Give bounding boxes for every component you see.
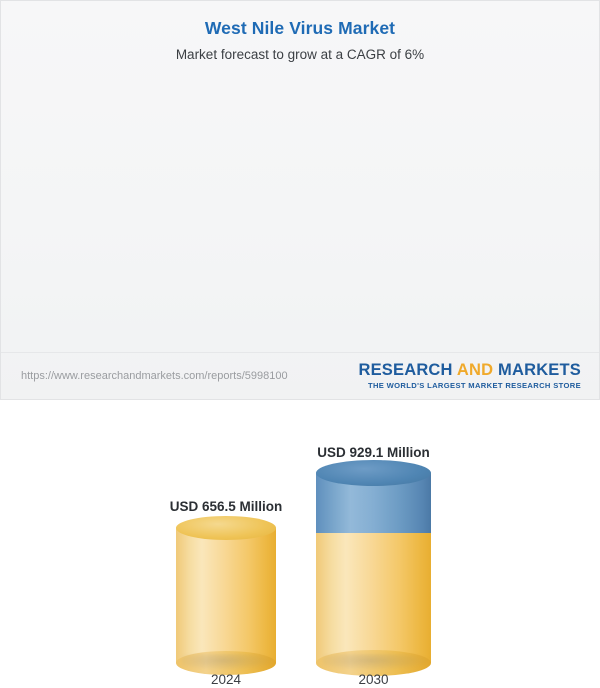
logo-wordmark: RESEARCH AND MARKETS [358, 361, 581, 380]
logo-word-markets: MARKETS [498, 361, 581, 379]
infographic-card: West Nile Virus Market Market forecast t… [0, 0, 600, 400]
cylinder-shadow [323, 654, 431, 670]
category-label-2024: 2024 [211, 671, 241, 688]
logo-tagline: THE WORLD'S LARGEST MARKET RESEARCH STOR… [358, 381, 581, 391]
cylinder-top-cap [176, 516, 276, 540]
cylinder-bar-2024[interactable] [176, 528, 276, 663]
brand-logo[interactable]: RESEARCH AND MARKETS THE WORLD'S LARGEST… [358, 361, 581, 391]
logo-word-research: RESEARCH [358, 361, 452, 379]
chart-plot-area: USD 656.5 Million 2024 USD 929.1 Million [1, 1, 600, 353]
source-url[interactable]: https://www.researchandmarkets.com/repor… [21, 369, 288, 383]
cylinder-shadow [182, 654, 276, 670]
bar-segment-base [176, 528, 276, 663]
segment-body [176, 528, 276, 663]
segment-body [316, 533, 431, 663]
cylinder-bar-2030[interactable] [316, 473, 431, 663]
category-label-2030: 2030 [358, 671, 388, 688]
footer: https://www.researchandmarkets.com/repor… [1, 352, 599, 399]
bar-segment-base [316, 533, 431, 663]
bar-segment-growth [316, 473, 431, 533]
bar-value-label: USD 929.1 Million [317, 444, 430, 461]
bar-value-label: USD 656.5 Million [170, 498, 283, 515]
cylinder-top-cap [316, 460, 431, 486]
logo-word-and: AND [457, 361, 493, 379]
